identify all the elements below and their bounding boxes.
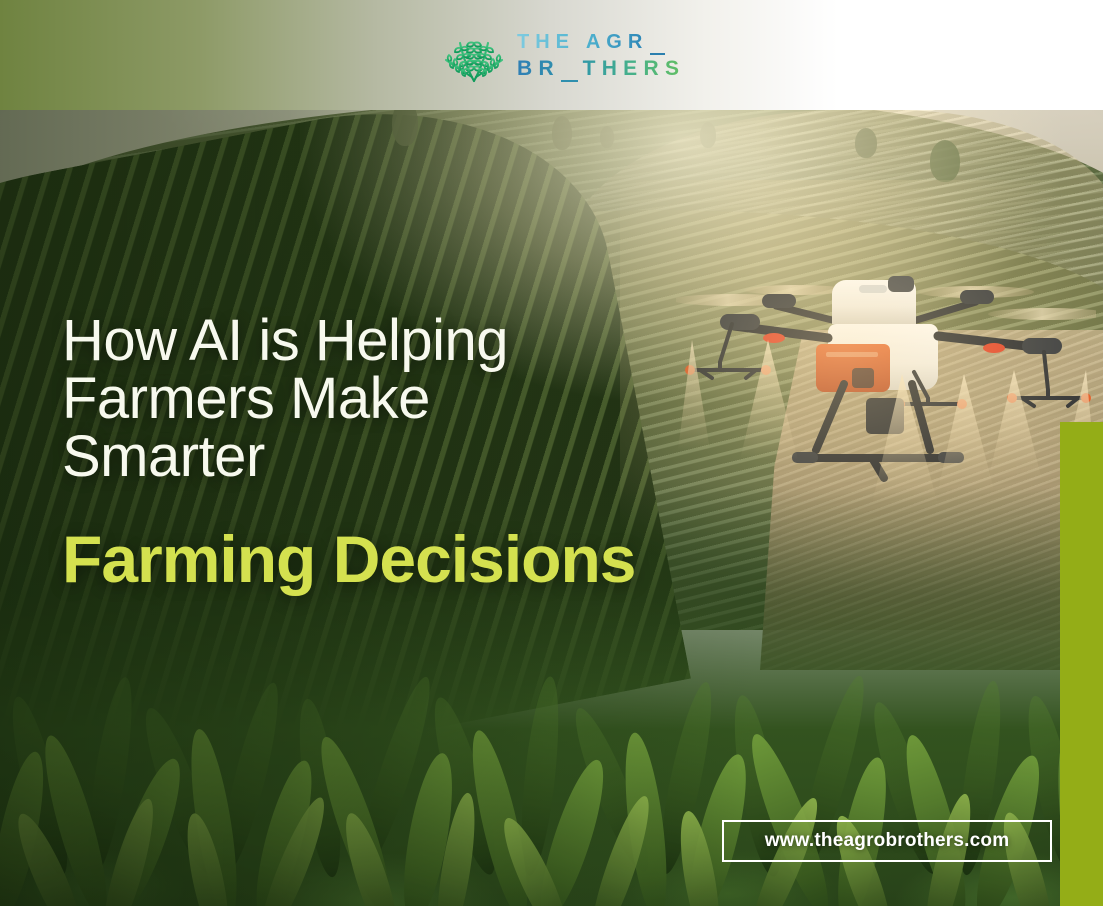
brand-wordmark: THE AGRO BROTHERS <box>517 32 685 79</box>
website-url-text: www.theagrobrothers.com <box>765 830 1010 852</box>
right-green-panel <box>1060 422 1103 906</box>
brand-line-2-suffix: THERS <box>583 57 686 80</box>
brand-line-1: THE AGRO <box>517 32 685 52</box>
page-subtitle: Farming Decisions <box>62 526 822 592</box>
poster-canvas: THE AGRO BROTHERS How AI is Helping Farm… <box>0 0 1103 906</box>
headline-line-3: Smarter <box>62 428 742 486</box>
brand-line-2-prefix: BR <box>517 57 560 80</box>
headline-line-1: How AI is Helping <box>62 312 742 370</box>
tree <box>855 128 877 158</box>
tree <box>600 126 614 148</box>
brand-logo[interactable]: THE AGRO BROTHERS <box>443 24 673 86</box>
page-title: How AI is Helping Farmers Make Smarter <box>62 312 742 486</box>
brand-line-2-o: O <box>560 58 583 79</box>
tree <box>930 140 960 182</box>
brand-line-1-o: O <box>648 32 670 52</box>
brand-line-2: BROTHERS <box>517 58 685 79</box>
brand-line-1-text: THE AGR <box>517 31 648 53</box>
tree <box>552 116 572 150</box>
headline-line-2: Farmers Make <box>62 370 742 428</box>
website-url-badge[interactable]: www.theagrobrothers.com <box>722 820 1052 862</box>
tree <box>700 122 716 148</box>
wheat-stalks-icon <box>443 27 505 83</box>
